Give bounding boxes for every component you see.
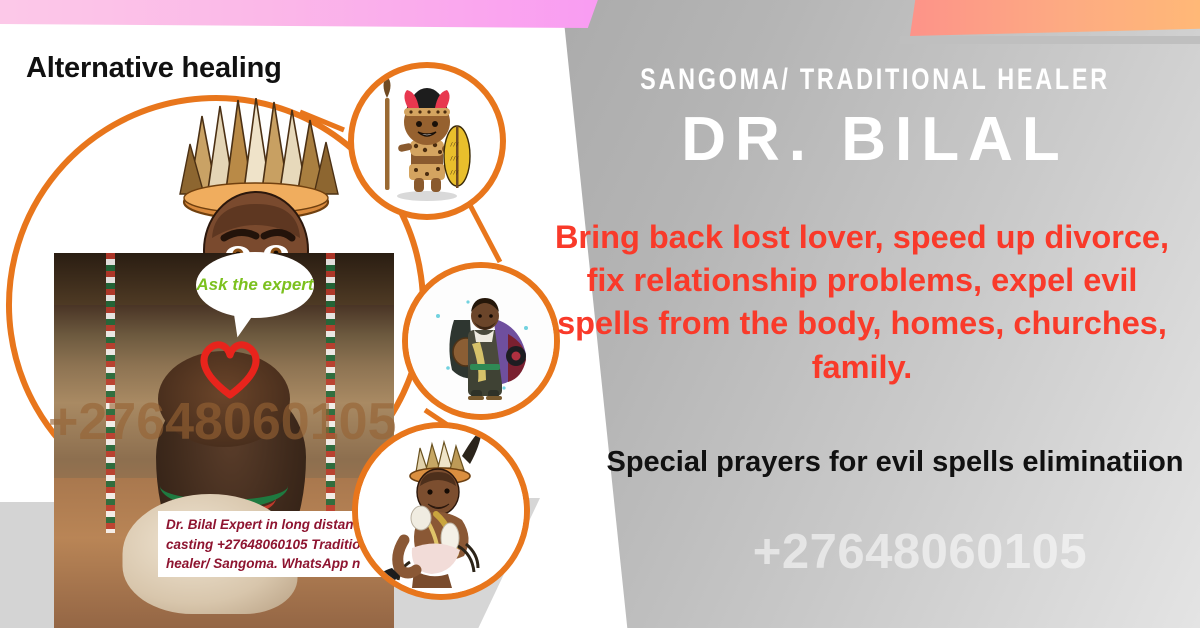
circle-bubble-bottom <box>352 422 530 600</box>
speech-bubble-label: Ask the expert <box>196 276 313 294</box>
doctor-name: DR. BILAL <box>560 104 1190 175</box>
zulu-warrior-cartoon-icon: ///////// <box>354 68 500 214</box>
svg-text:///: /// <box>450 142 459 148</box>
circle-bubble-middle <box>402 262 560 420</box>
svg-text:///: /// <box>450 170 459 176</box>
phone-watermark: +27648060105 <box>640 524 1200 580</box>
crouching-warrior-icon <box>358 428 524 594</box>
cloaked-healer-icon <box>408 268 554 414</box>
special-prayers-text: Special prayers for evil spells eliminat… <box>600 443 1190 482</box>
circle-bubble-top: ///////// <box>348 62 506 220</box>
tagline: SANGOMA/ TRADITIONAL HEALER <box>629 63 1120 97</box>
services-text: Bring back lost lover, speed up divorce,… <box>538 216 1186 389</box>
svg-text:///: /// <box>450 156 459 162</box>
poster-canvas: Alternative healing <box>0 0 1200 628</box>
